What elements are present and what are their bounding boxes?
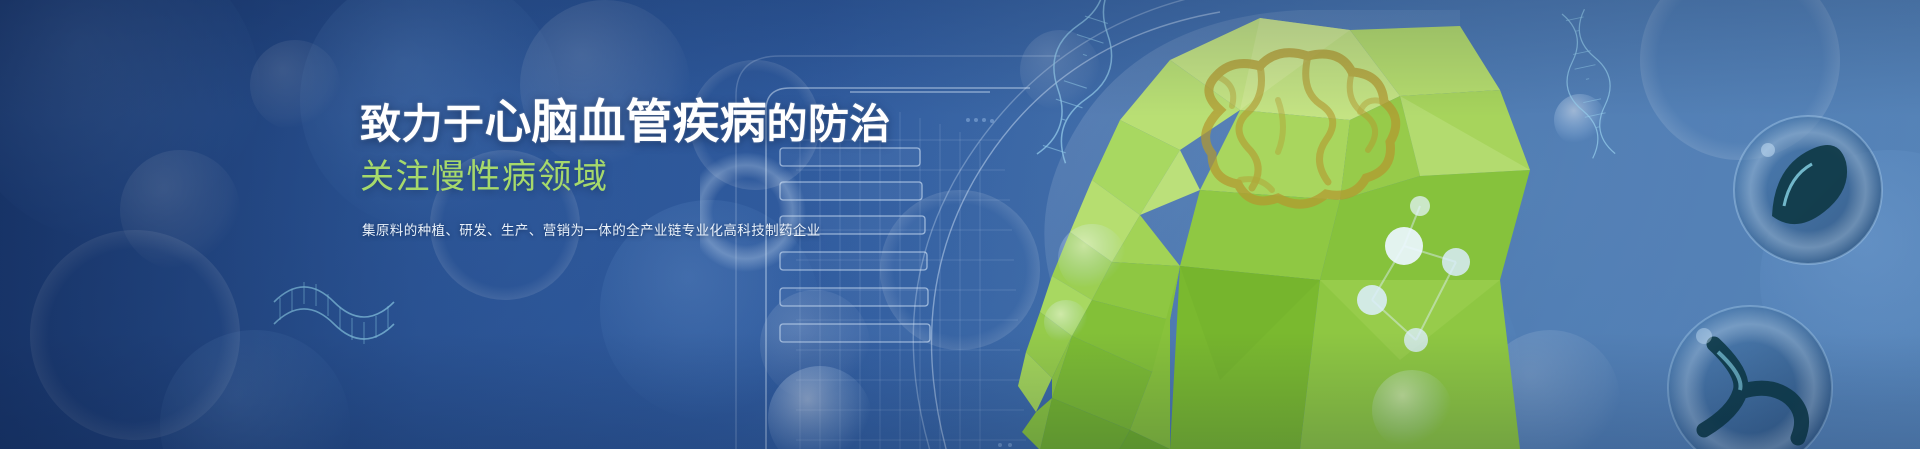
hero-banner: 致力于心脑血管疾病的防治 关注慢性病领域 集原料的种植、研发、生产、营销为一体的… [0,0,1920,449]
hud-bar-list [780,148,930,342]
hud-bar [780,288,928,306]
bacteria-icon [1734,116,1882,264]
page-title: 致力于心脑血管疾病的防治 [360,96,790,149]
bokeh-circle [250,40,340,130]
hud-bar [780,148,920,166]
dna-helix-icon [270,250,410,360]
company-tagline: 集原料的种植、研发、生产、营销为一体的全产业链专业化高科技制药企业 [362,221,790,241]
headline-prefix: 致力于 [360,101,485,147]
hud-bar [780,324,930,342]
bokeh-circle [160,330,350,449]
hud-bar [780,252,927,270]
hero-graphic [700,0,1920,449]
hero-copy: 致力于心脑血管疾病的防治 关注慢性病领域 集原料的种植、研发、生产、营销为一体的… [360,96,790,242]
accent-dots [966,118,1012,447]
bokeh-circle [30,230,240,440]
bokeh-circle [0,0,260,240]
page-subtitle: 关注慢性病领域 [360,157,790,198]
virus-icon [1668,306,1832,449]
bokeh-circle [120,150,240,270]
headline-suffix: 的防治 [767,101,892,147]
headline-emphasis: 心脑血管疾病 [485,95,767,148]
